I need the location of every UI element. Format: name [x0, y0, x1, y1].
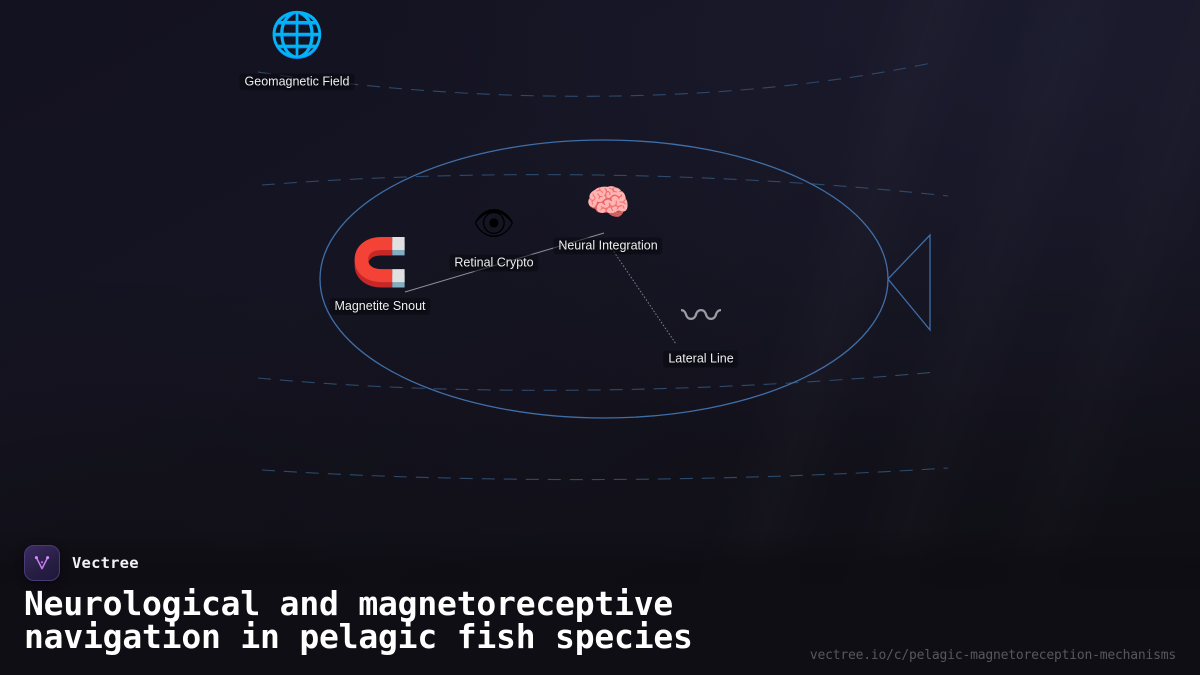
node-label-lateral-line: Lateral Line: [663, 351, 738, 368]
brand-name: Vectree: [72, 554, 139, 572]
geomagnetic-field-line-3: [258, 372, 936, 390]
geomagnetic-field-line-4: [262, 468, 948, 480]
magnet-icon: 🧲: [351, 239, 408, 285]
page-title: Neurological and magnetoreceptivenavigat…: [24, 587, 784, 653]
caudal-fin: [888, 235, 930, 330]
wavy-dash-icon: 〰: [681, 297, 721, 337]
source-url[interactable]: vectree.io/c/pelagic-magnetoreception-me…: [810, 648, 1176, 663]
node-label-retinal-crypto: Retinal Crypto: [449, 255, 538, 272]
infographic-card: 🌐 Geomagnetic Field 🧲 Magnetite Snout 👁 …: [0, 0, 1200, 675]
node-label-magnetite-snout: Magnetite Snout: [329, 298, 430, 315]
eye-icon: 👁: [472, 207, 515, 241]
node-retinal-crypto[interactable]: 👁 Retinal Crypto: [449, 207, 538, 272]
brand-row[interactable]: Vectree: [24, 545, 139, 581]
node-neural-integration[interactable]: 🧠 Neural Integration: [553, 186, 662, 255]
headline-block: Neurological and magnetoreceptivenavigat…: [24, 587, 1176, 653]
node-lateral-line[interactable]: 〰 Lateral Line: [663, 297, 738, 368]
node-magnetite-snout[interactable]: 🧲 Magnetite Snout: [329, 239, 430, 315]
vectree-v-logo-icon: [24, 545, 60, 581]
footer-bar: Vectree Neurological and magnetoreceptiv…: [0, 529, 1200, 675]
geomagnetic-field-line-1: [258, 62, 936, 96]
node-label-geomagnetic-field: Geomagnetic Field: [240, 74, 355, 91]
brain-icon: 🧠: [586, 186, 631, 222]
node-geomagnetic-field[interactable]: 🌐 Geomagnetic Field: [240, 14, 355, 91]
globe-icon: 🌐: [270, 14, 325, 58]
page-title-line-2: navigation in pelagic fish species: [24, 617, 693, 656]
node-label-neural-integration: Neural Integration: [553, 238, 662, 255]
